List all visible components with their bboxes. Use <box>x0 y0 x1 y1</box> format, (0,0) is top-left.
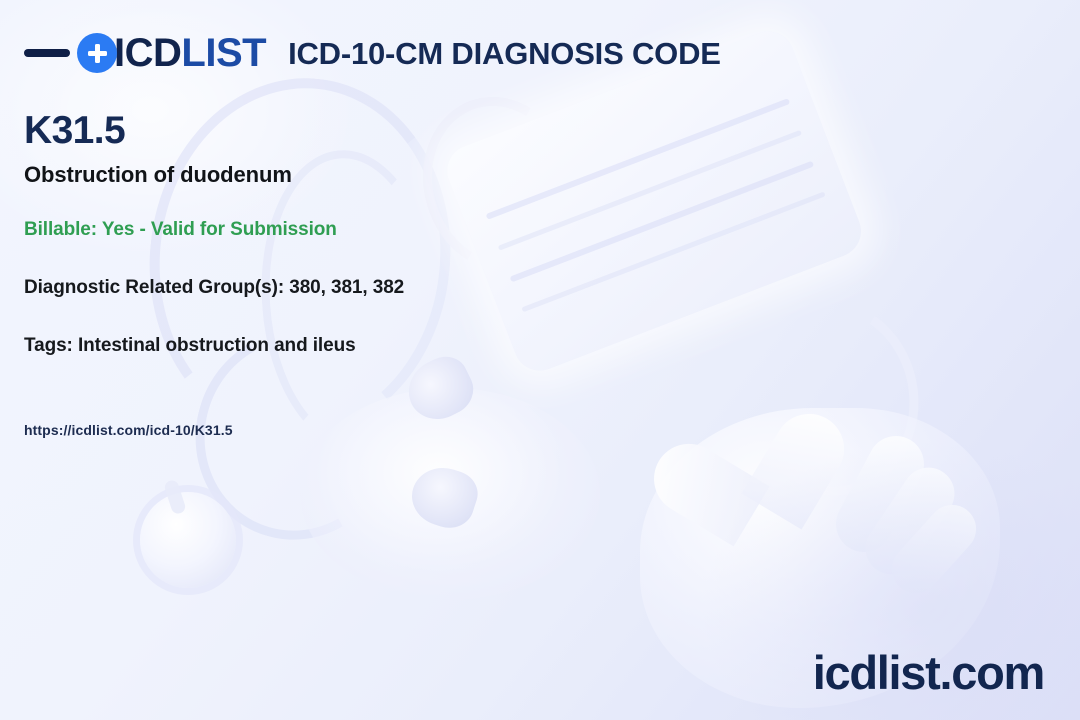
icdlist-logo[interactable]: ICDLIST <box>24 33 266 73</box>
diagnostic-related-groups: Diagnostic Related Group(s): 380, 381, 3… <box>24 277 664 300</box>
source-url[interactable]: https://icdlist.com/icd-10/K31.5 <box>24 422 664 439</box>
plus-circle-icon <box>77 33 117 73</box>
diagnosis-code-details: K31.5 Obstruction of duodenum Billable: … <box>24 110 664 439</box>
page-title: ICD-10-CM DIAGNOSIS CODE <box>288 38 721 69</box>
dash-mark-icon <box>24 49 70 57</box>
logo-text-icd: ICD <box>114 31 181 75</box>
diagnosis-code: K31.5 <box>24 110 664 153</box>
billable-status: Billable: Yes - Valid for Submission <box>24 219 664 242</box>
page-header: ICDLIST ICD-10-CM DIAGNOSIS CODE <box>24 24 1056 82</box>
plus-icon-vertical-bar <box>95 44 100 63</box>
diagnosis-tags: Tags: Intestinal obstruction and ileus <box>24 335 664 358</box>
diagnosis-description: Obstruction of duodenum <box>24 161 664 189</box>
page-content: ICDLIST ICD-10-CM DIAGNOSIS CODE K31.5 O… <box>0 0 1080 720</box>
footer-brand[interactable]: icdlist.com <box>813 649 1044 696</box>
logo-text-list: LIST <box>181 31 266 75</box>
logo-wordmark: ICDLIST <box>114 33 266 73</box>
